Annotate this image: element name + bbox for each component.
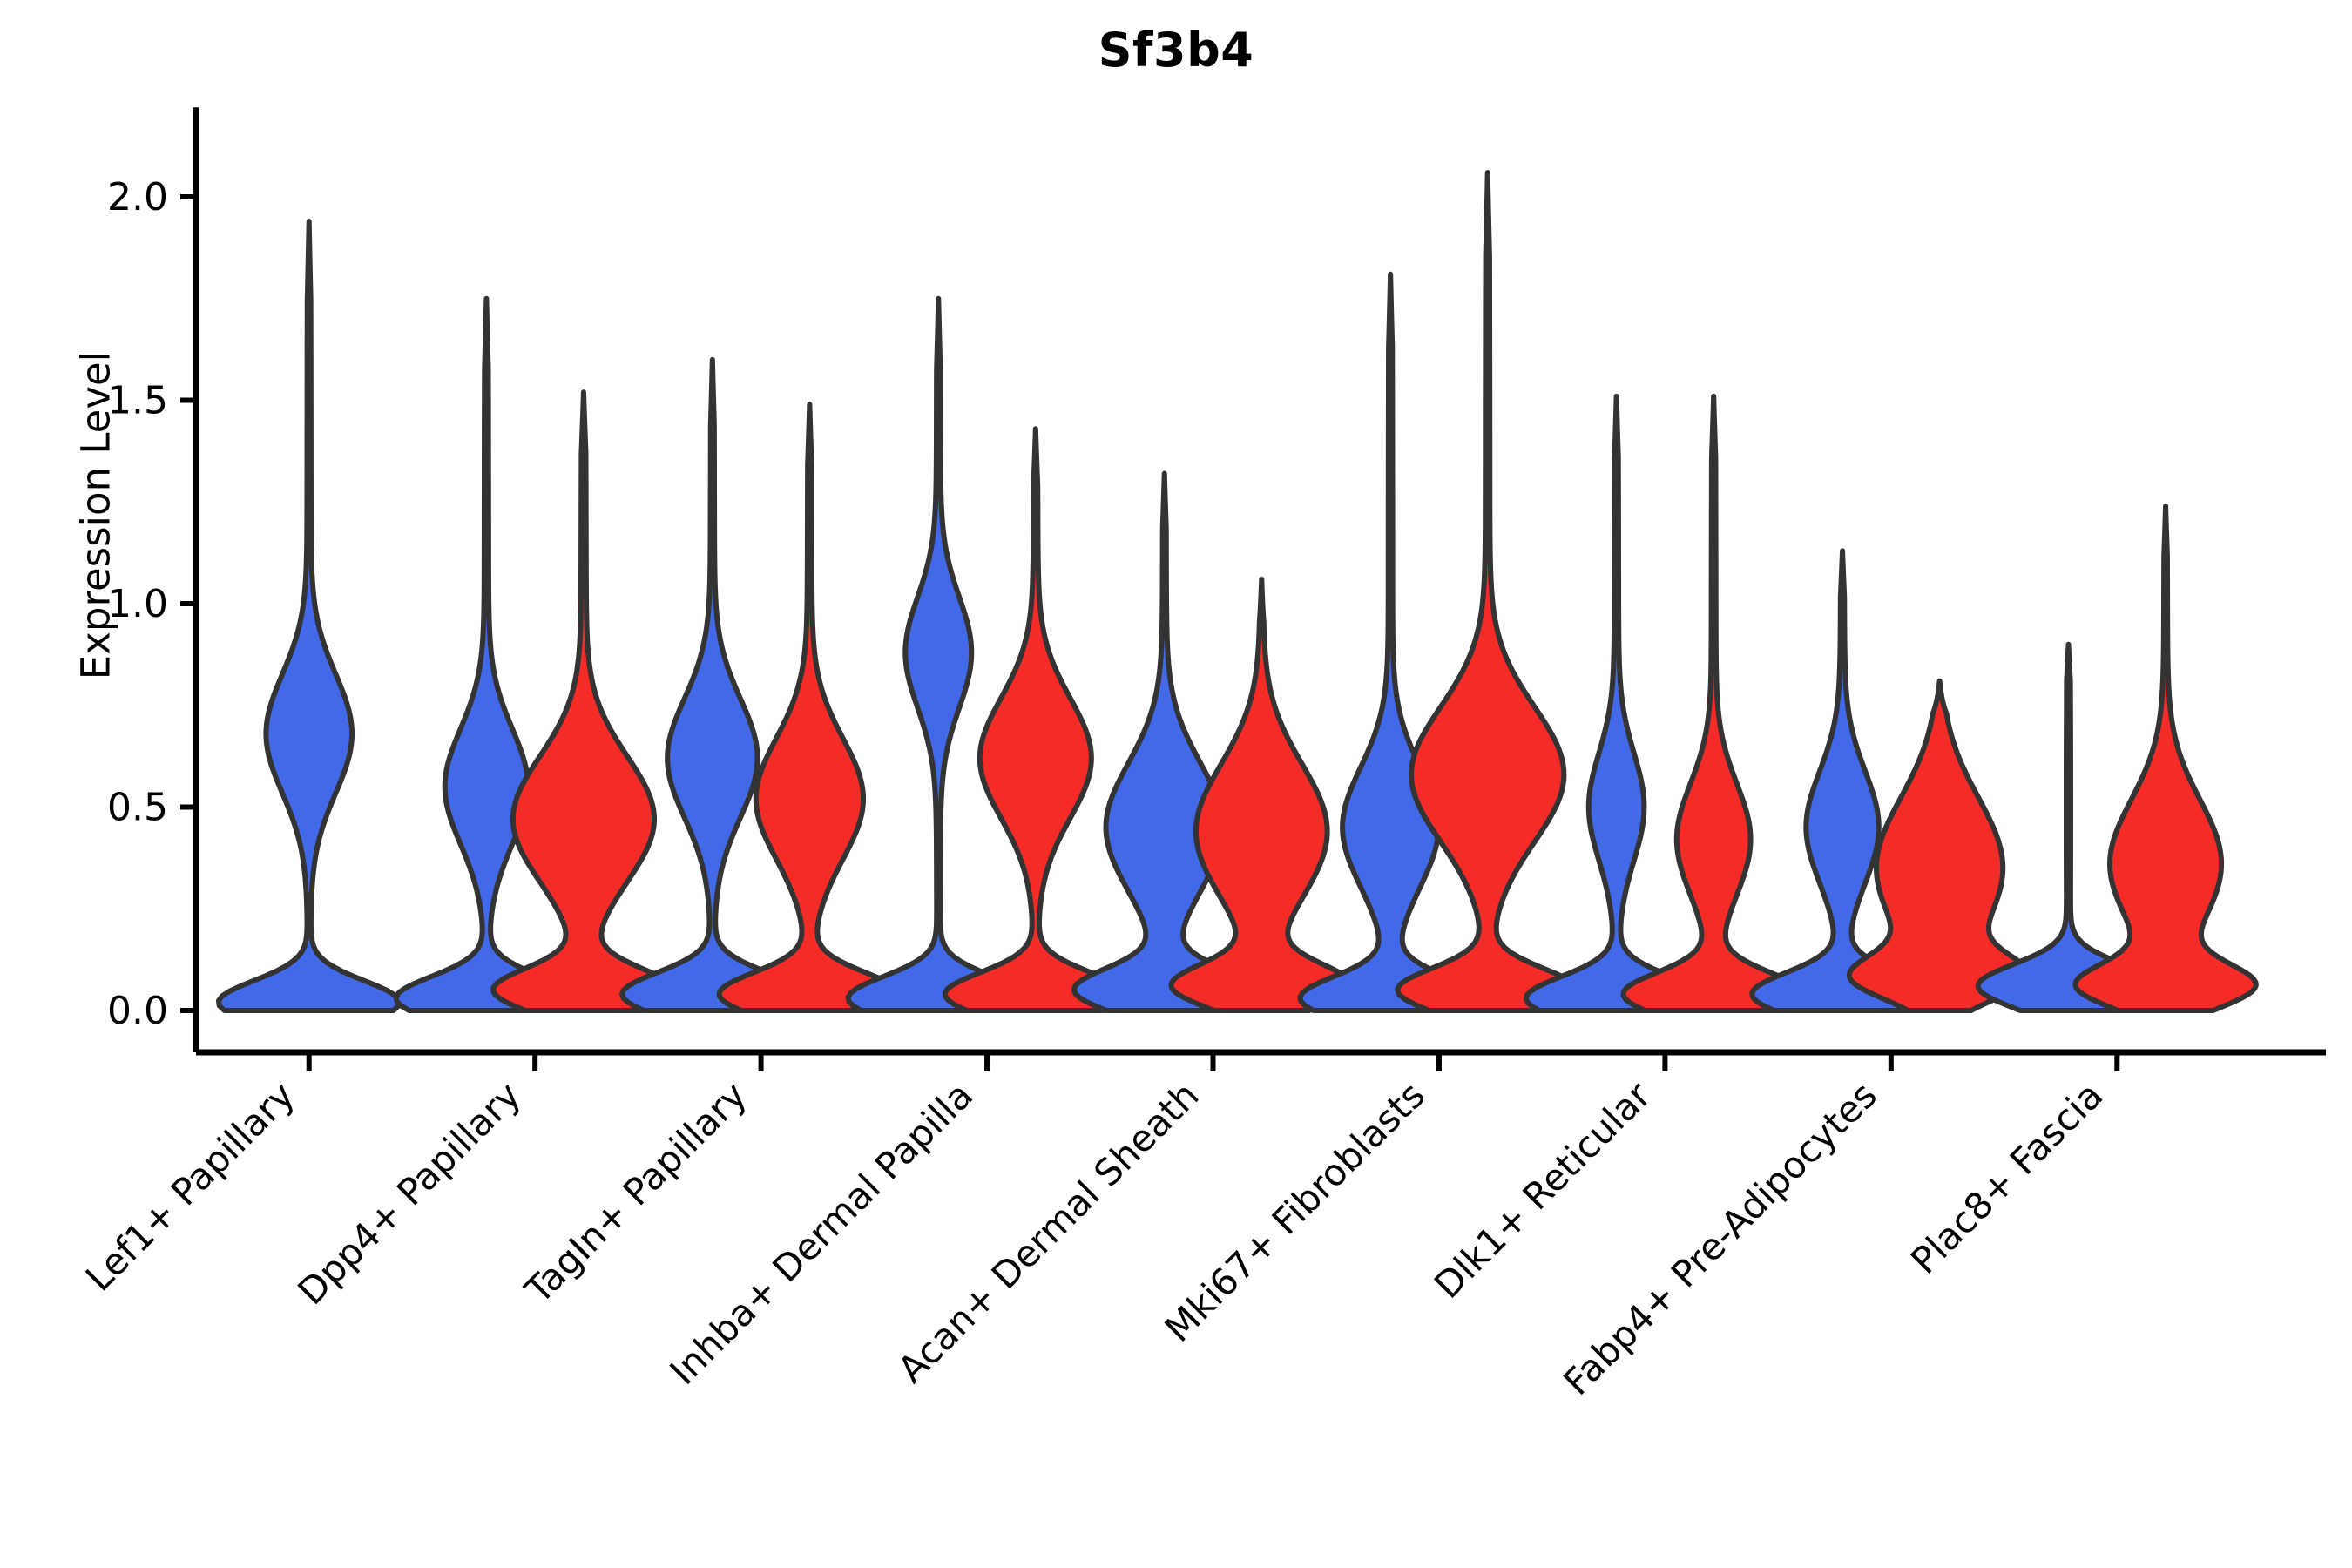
violin-shape bbox=[1526, 396, 1707, 1010]
violin-shape bbox=[493, 392, 674, 1010]
x-tick-label: Dpp4+ Papillary bbox=[289, 1073, 529, 1313]
x-tick-label: Mki67+ Fibroblasts bbox=[1157, 1073, 1433, 1349]
violin-shape bbox=[1300, 274, 1481, 1010]
violin-shape bbox=[1074, 474, 1255, 1010]
x-tick-label: Lef1+ Papillary bbox=[78, 1073, 303, 1299]
violin-shape bbox=[219, 221, 400, 1010]
y-tick-label: 2.0 bbox=[107, 175, 168, 220]
y-tick-label: 1.0 bbox=[107, 582, 168, 626]
violin-shape bbox=[1397, 172, 1578, 1010]
violin-shape bbox=[396, 299, 578, 1010]
violin-plot-figure: Sf3b4 Expression Level 0.00.51.01.52.0 L… bbox=[0, 0, 2352, 1568]
plot-canvas: 0.00.51.01.52.0 Lef1+ PapillaryDpp4+ Pap… bbox=[0, 0, 2352, 1568]
violin-shape bbox=[622, 360, 803, 1010]
y-tick-label: 1.5 bbox=[107, 379, 168, 423]
y-tick-label: 0.0 bbox=[107, 989, 168, 1033]
violin-group-layer bbox=[219, 172, 2256, 1010]
violin-shape bbox=[848, 299, 1030, 1010]
y-tick-layer: 0.00.51.01.52.0 bbox=[107, 175, 196, 1033]
x-tick-label: Plac8+ Fascia bbox=[1903, 1073, 2111, 1281]
x-tick-label: Dlk1+ Reticular bbox=[1426, 1073, 1659, 1307]
violin-shape bbox=[2075, 506, 2256, 1010]
x-tick-label: TagIn+ Papillary bbox=[517, 1073, 755, 1312]
violin-shape bbox=[1623, 396, 1804, 1010]
violin-shape bbox=[945, 429, 1126, 1010]
y-tick-label: 0.5 bbox=[107, 786, 168, 830]
x-tick-layer: Lef1+ PapillaryDpp4+ PapillaryTagIn+ Pap… bbox=[78, 1052, 2117, 1403]
